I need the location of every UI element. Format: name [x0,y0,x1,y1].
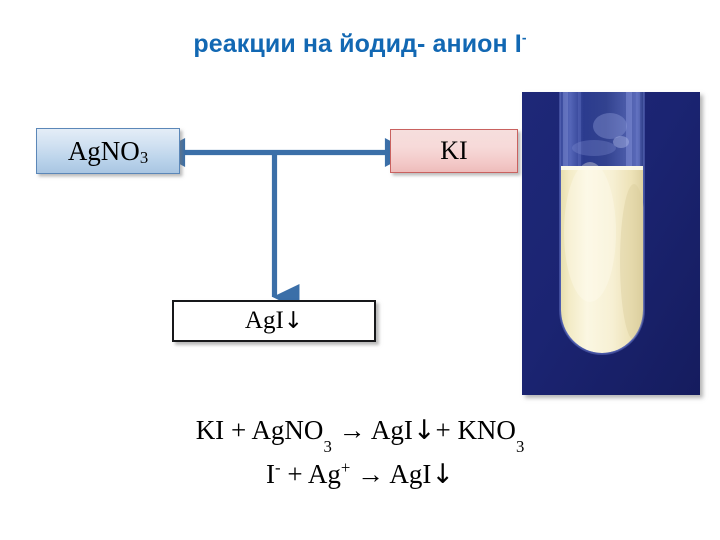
iodide-charge-superscript: - [522,30,527,46]
eq2-product: AgI [389,459,431,489]
eq1-reactant-2-subscript: 3 [323,437,331,456]
eq1-plus-2: + [435,415,457,445]
agi-formula: AgI [245,307,284,335]
agi-precipitate [561,162,648,353]
eq2-reactant-1: I [266,459,275,489]
product-box-agi[interactable]: AgI↓ [172,300,376,342]
eq1-reactant-2: AgNO [251,415,323,445]
eq2-reaction-arrow-icon: → [350,459,389,489]
agno3-formula: AgNO [68,136,140,167]
precipitate-down-arrow-icon: ↓ [284,308,303,334]
page-title: реакции на йодид- анион I- [0,30,720,59]
eq2-precipitate-down-arrow-icon: ↓ [431,459,454,490]
eq1-product-1: AgI [371,415,413,445]
test-tube-photo [522,92,700,395]
eq1-reaction-arrow-icon: → [332,415,371,445]
reagent-box-ki[interactable]: KI [390,129,518,173]
eq1-reactant-1: KI [196,415,225,445]
reagent-box-agno3[interactable]: AgNO3 [36,128,180,174]
eq2-plus-1: + [281,459,308,489]
eq2-reactant-2-charge: + [341,458,350,477]
eq1-plus-1: + [224,415,251,445]
eq1-precipitate-down-arrow-icon: ↓ [413,415,436,446]
eq1-product-2: KNO [457,415,516,445]
eq2-reactant-2: Ag [308,459,341,489]
ki-formula: KI [440,136,467,166]
equation-molecular: KI + AgNO3 → AgI↓+ KNO3 [0,415,720,446]
equation-ionic: I- + Ag+ → AgI↓ [0,459,720,490]
slide-root: реакции на йодид- анион I- AgNO3 KI AgI↓ [0,0,720,540]
test-tube-illustration [522,92,700,395]
eq1-product-2-subscript: 3 [516,437,524,456]
page-title-text: реакции на йодид- анион I [193,30,521,58]
